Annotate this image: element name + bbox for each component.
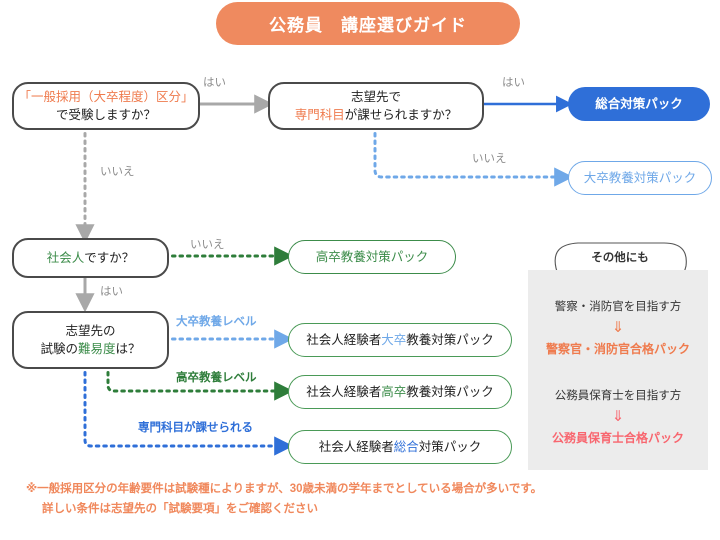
footnote: ※一般採用区分の年齢要件は試験種によりますが、30歳未満の学年までとしている場合…: [26, 480, 696, 519]
panel-entry-1-pack[interactable]: 警察官・消防官合格パック: [528, 340, 708, 357]
q4-line1: 志望先の: [65, 322, 115, 340]
result-pill-daisotsu-kyouyou[interactable]: 大卒教養対策パック: [568, 161, 712, 195]
q2-line1: 志望先で: [351, 88, 401, 106]
result-label: 総合対策パック: [595, 97, 683, 112]
result-label: 大卒教養対策パック: [584, 171, 697, 186]
panel-entry-1-arrow-icon: ⇓: [528, 318, 708, 336]
edge-label-q3-yes: はい: [100, 283, 123, 299]
result-pill-shakaijin-kousotsu[interactable]: 社会人経験者高卒教養対策パック: [288, 375, 512, 409]
result-pill-kousotsu-kyouyou[interactable]: 高卒教養対策パック: [288, 240, 456, 274]
result-pill-shakaijin-daisotsu[interactable]: 社会人経験者大卒教養対策パック: [288, 323, 512, 357]
edge-label-q2-no: いいえ: [472, 150, 507, 166]
panel-entry-2-arrow-icon: ⇓: [528, 407, 708, 425]
flowchart-canvas: 公務員 講座選びガイド 「一般採用（大卒程度）区分」 で受験しますか？ 志望先で…: [0, 0, 720, 540]
panel-entry-2-pack[interactable]: 公務員保育士合格パック: [528, 429, 708, 446]
edge-label-q2-yes: はい: [502, 74, 525, 90]
result-pill-shakaijin-sougou[interactable]: 社会人経験者総合対策パック: [288, 430, 512, 464]
q3-text: 社会人ですか？: [47, 249, 135, 267]
result-label: 社会人経験者高卒教養対策パック: [306, 385, 494, 400]
page-title: 公務員 講座選びガイド: [269, 11, 467, 36]
footnote-line-2: 詳しい条件は志望先の「試験要項」をご確認ください: [26, 500, 696, 520]
question-box-q2[interactable]: 志望先で 専門科目が課せられますか？: [268, 82, 484, 130]
edge-label-q1-no: いいえ: [100, 163, 135, 179]
q4-line2: 試験の難易度は？: [40, 340, 140, 358]
result-label: 社会人経験者総合対策パック: [319, 440, 482, 455]
edge-label-q4-daisotsu: 大卒教養レベル: [176, 313, 257, 329]
panel-entry-1-target: 警察・消防官を目指す方: [528, 298, 708, 314]
edge-label-q3-no: いいえ: [190, 236, 225, 252]
question-box-q1[interactable]: 「一般採用（大卒程度）区分」 で受験しますか？: [12, 82, 200, 130]
edge-label-q1-yes: はい: [203, 74, 226, 90]
edge-label-q4-kousotsu: 高卒教養レベル: [176, 369, 257, 385]
result-label: 高卒教養対策パック: [316, 250, 429, 265]
footnote-line-1: ※一般採用区分の年齢要件は試験種によりますが、30歳未満の学年までとしている場合…: [26, 483, 542, 495]
q2-line2: 専門科目が課せられますか？: [295, 106, 458, 124]
question-box-q4[interactable]: 志望先の 試験の難易度は？: [12, 311, 169, 369]
page-title-banner: 公務員 講座選びガイド: [216, 2, 520, 45]
panel-entry-2-target: 公務員保育士を目指す方: [528, 387, 708, 403]
result-pill-sougou-taisaku[interactable]: 総合対策パック: [568, 87, 710, 121]
other-options-bubble-label: その他にも: [560, 249, 680, 265]
edge-label-q4-senmon: 専門科目が課せられる: [138, 419, 253, 435]
other-options-panel: 警察・消防官を目指す方 ⇓ 警察官・消防官合格パック 公務員保育士を目指す方 ⇓…: [528, 270, 708, 470]
result-label: 社会人経験者大卒教養対策パック: [306, 333, 494, 348]
q1-line1: 「一般採用（大卒程度）区分」: [18, 88, 193, 106]
q1-line2: で受験しますか？: [56, 106, 156, 124]
question-box-q3[interactable]: 社会人ですか？: [12, 238, 169, 278]
